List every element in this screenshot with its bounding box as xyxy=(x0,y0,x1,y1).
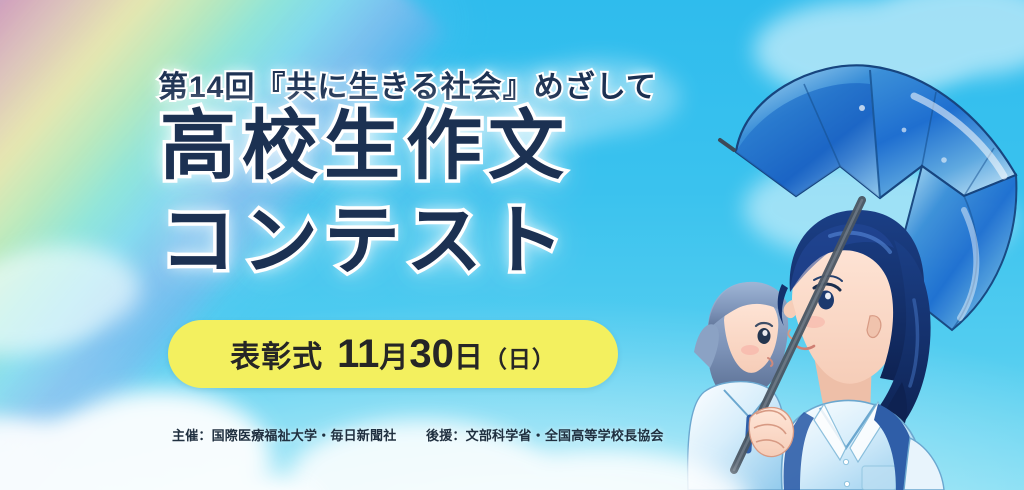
ceremony-day-number: 30 xyxy=(409,332,454,377)
credits-line: 主催：国際医療福祉大学・毎日新聞社 後援：文部科学省・全国高等学校長協会 xyxy=(172,425,664,444)
organizer-credit: 主催：国際医療福祉大学・毎日新聞社 xyxy=(172,428,396,443)
ceremony-date-text: 表彰式 11 月 30 日 （日） xyxy=(230,332,556,377)
poster-title-line-1: 高校生作文 xyxy=(160,110,570,184)
contest-poster-banner: 第14回『共に生きる社会』めざして 高校生作文 コンテスト 表彰式 11 月 3… xyxy=(0,0,1024,490)
ceremony-month-number: 11 xyxy=(337,332,379,377)
poster-title-line-2: コンテスト xyxy=(160,205,570,279)
ceremony-date-badge: 表彰式 11 月 30 日 （日） xyxy=(168,320,618,388)
ceremony-day-of-week: （日） xyxy=(484,340,556,374)
ceremony-label: 表彰式 xyxy=(230,332,323,376)
ceremony-day-unit: 日 xyxy=(454,334,484,376)
poster-subtitle: 第14回『共に生きる社会』めざして xyxy=(158,62,657,106)
ceremony-month-unit: 月 xyxy=(379,334,409,376)
support-credit: 後援：文部科学省・全国高等学校長協会 xyxy=(426,428,664,443)
